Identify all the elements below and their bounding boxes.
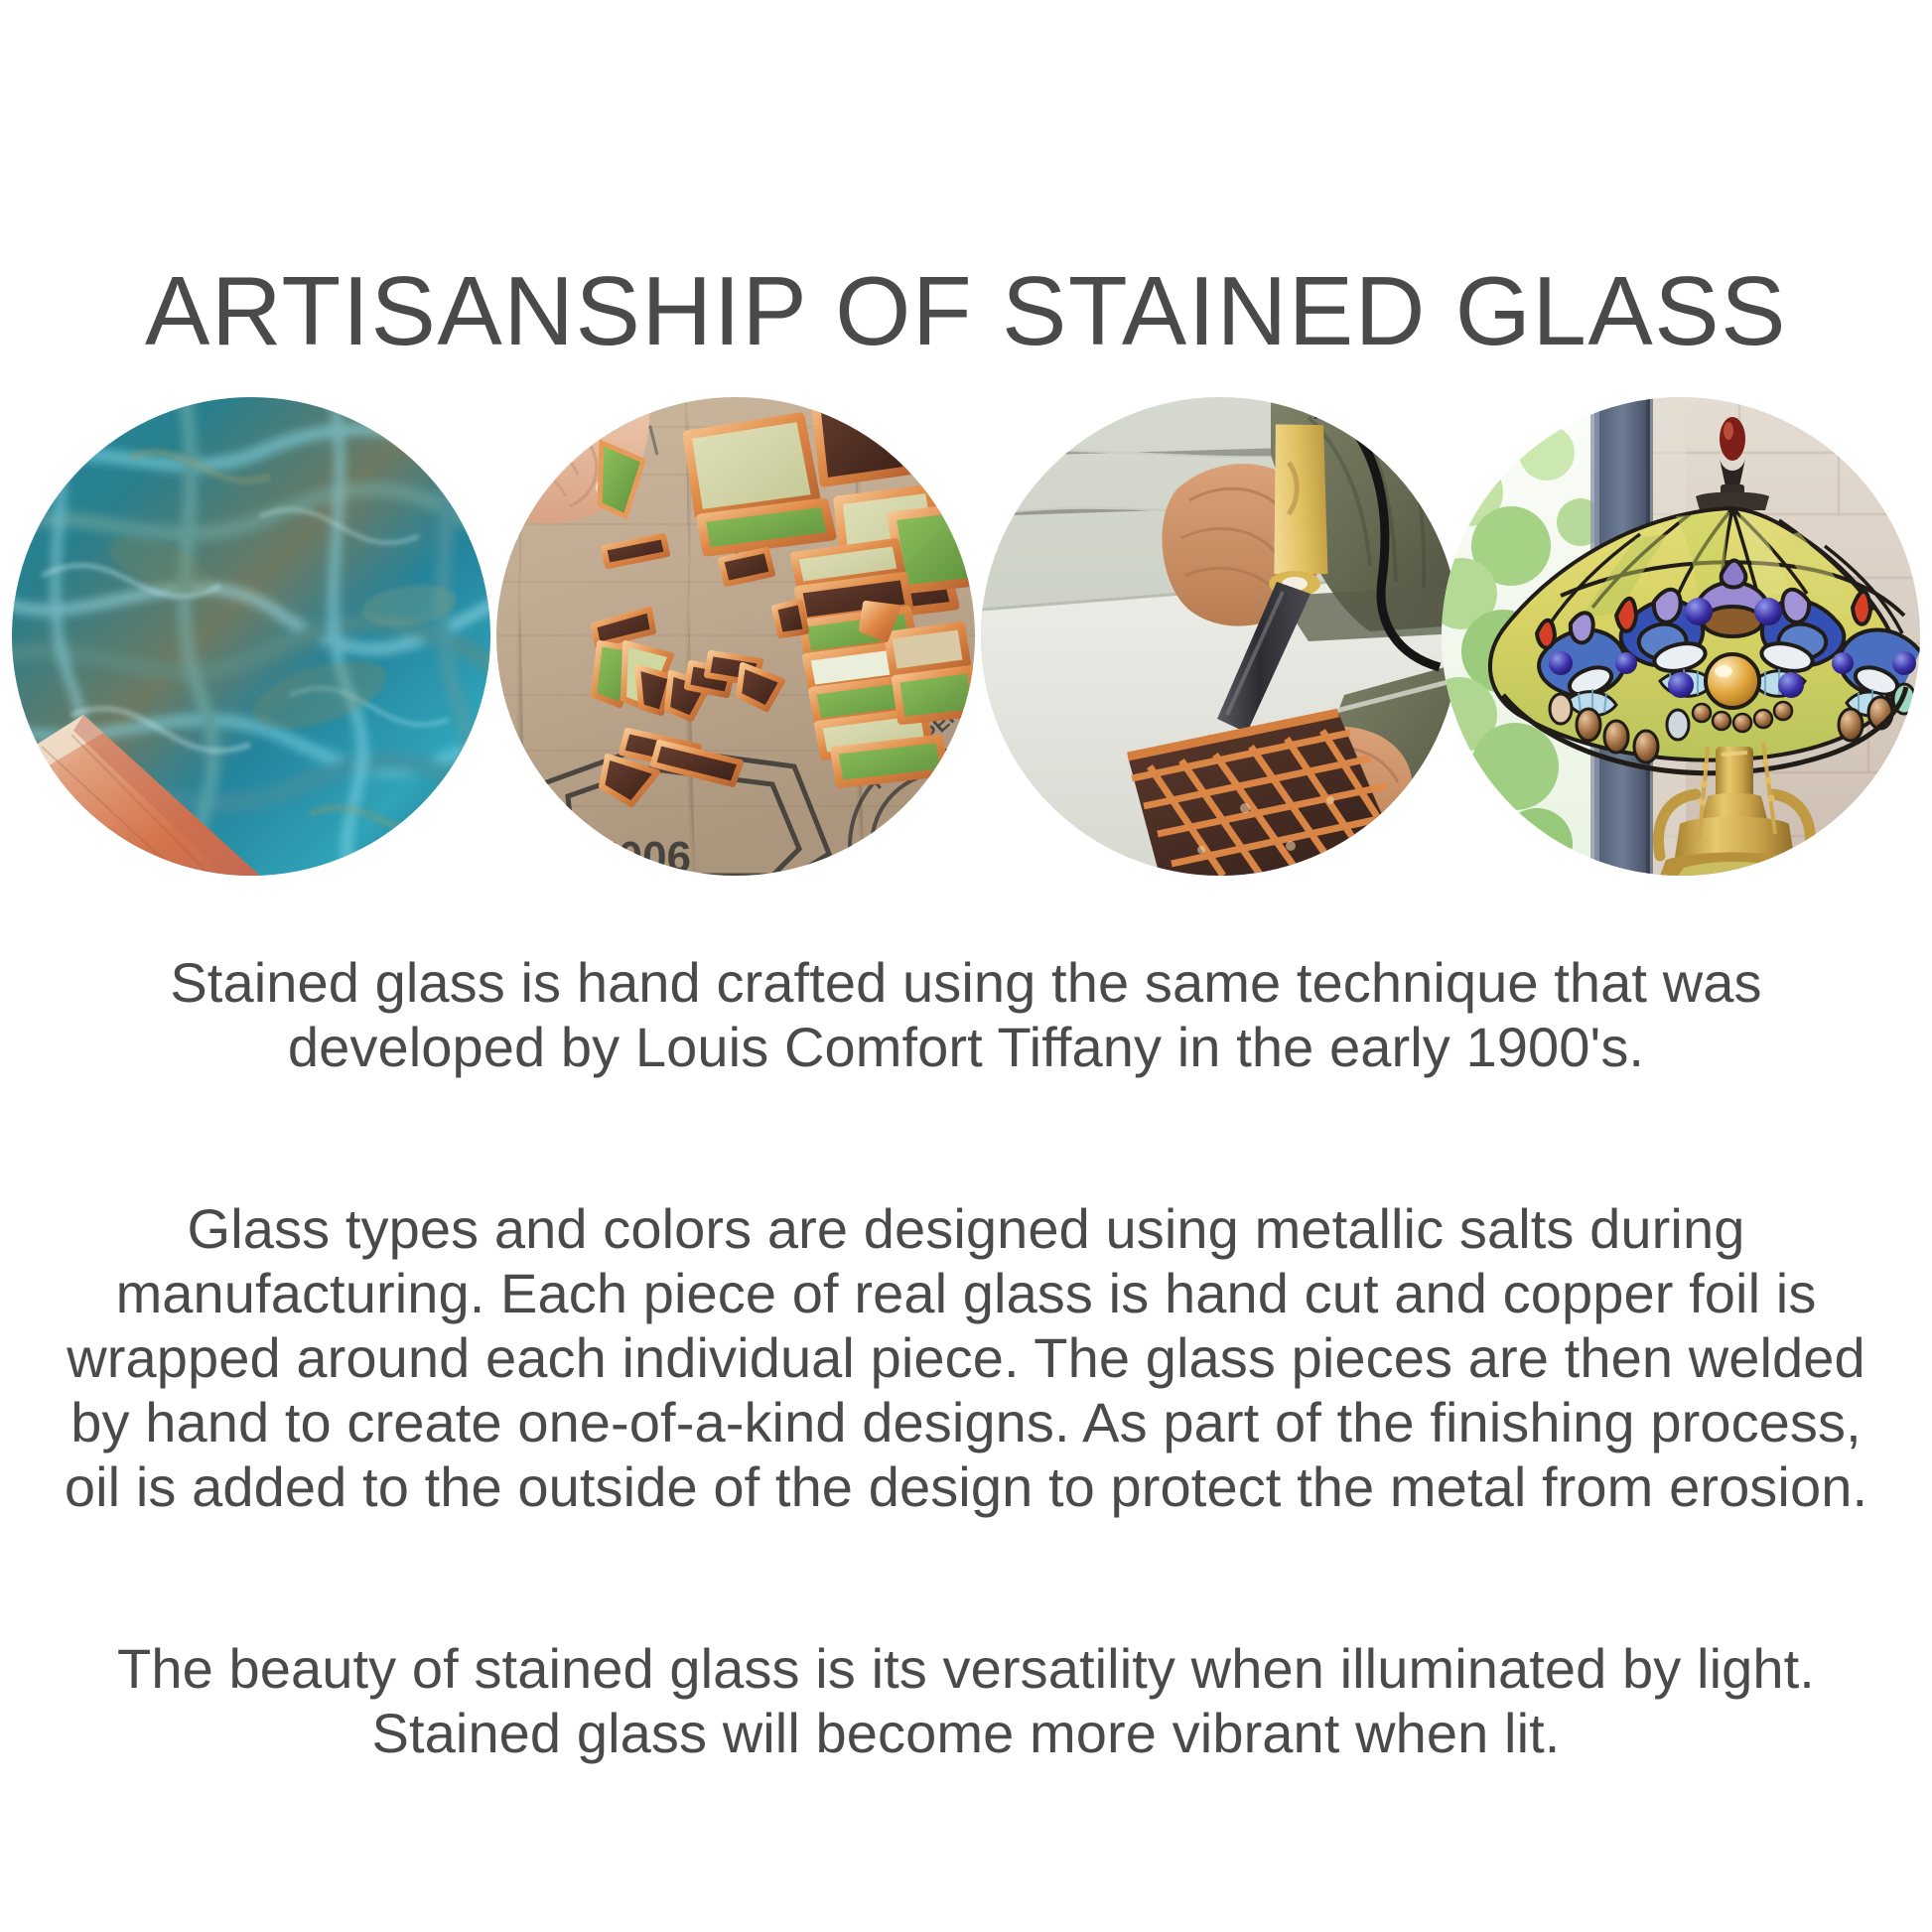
copper-foil-illustration: 9001:2 CE TY · SUPER QU OP: [496, 397, 975, 876]
svg-text:9001:2: 9001:2: [555, 832, 691, 876]
infographic-page: ARTISANSHIP OF STAINED GLASS: [0, 0, 1932, 1932]
ring: [505, 435, 531, 455]
gallery-image-glass-sheet: [12, 397, 490, 876]
gallery-image-soldering: [981, 397, 1459, 876]
paragraph-2: Glass types and colors are designed usin…: [40, 1197, 1892, 1520]
svg-text:CE: CE: [566, 859, 594, 876]
paragraph-1: Stained glass is hand crafted using the …: [40, 951, 1892, 1080]
tiffany-lamp-illustration: [1442, 397, 1920, 876]
iso-stamp-text: 9001:2 CE: [555, 832, 691, 876]
gallery-image-copper-foil-pieces: 9001:2 CE TY · SUPER QU OP: [496, 397, 975, 876]
image-gallery: 9001:2 CE TY · SUPER QU OP: [0, 397, 1932, 876]
body-copy: Stained glass is hand crafted using the …: [40, 951, 1892, 1766]
soldering-illustration: [981, 397, 1459, 876]
glass-sheet-illustration: [12, 397, 490, 876]
gallery-image-tiffany-lamp: [1442, 397, 1920, 876]
page-title: ARTISANSHIP OF STAINED GLASS: [0, 260, 1932, 362]
paragraph-3: The beauty of stained glass is its versa…: [40, 1637, 1892, 1766]
hand: [496, 397, 649, 524]
